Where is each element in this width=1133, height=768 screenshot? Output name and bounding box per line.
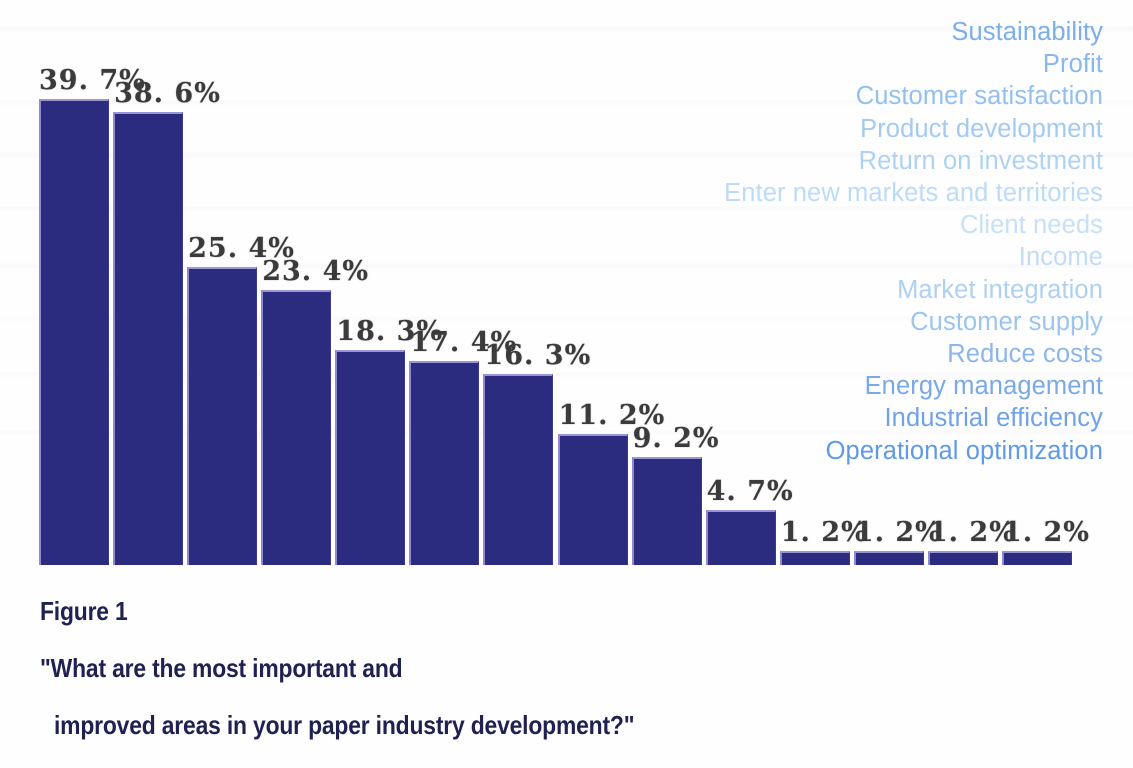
bar-rect <box>706 510 776 565</box>
bar[interactable] <box>780 551 850 565</box>
figure-number: Figure 1 <box>40 596 964 627</box>
legend-item-11: Energy management <box>403 370 1103 402</box>
bar-rect <box>113 112 183 565</box>
bar-value-label: 23. 4% <box>262 256 369 287</box>
bar-value-label: 38. 6% <box>114 78 221 109</box>
bar-rect <box>1002 551 1072 565</box>
figure-container: 39. 7%38. 6%25. 4%23. 4%18. 3%17. 4%16. … <box>0 0 1133 768</box>
bar[interactable] <box>854 551 924 565</box>
bar[interactable] <box>39 99 109 565</box>
bar-value-label: 4. 7% <box>707 476 794 507</box>
bar[interactable] <box>335 350 405 565</box>
bar-rect <box>261 290 331 565</box>
bar-rect <box>335 350 405 565</box>
legend-item-12: Industrial efficiency <box>403 402 1103 434</box>
bar-rect <box>39 99 109 565</box>
bar[interactable] <box>1002 551 1072 565</box>
caption-line-1: "What are the most important and <box>40 653 964 684</box>
bar[interactable] <box>928 551 998 565</box>
legend-item-5: Enter new markets and territories <box>403 177 1103 209</box>
bar-rect <box>928 551 998 565</box>
legend: SustainabilityProfitCustomer satisfactio… <box>403 16 1103 467</box>
legend-item-13: Operational optimization <box>403 435 1103 467</box>
legend-item-9: Customer supply <box>403 306 1103 338</box>
legend-item-8: Market integration <box>403 274 1103 306</box>
legend-item-7: Income <box>403 241 1103 273</box>
bar[interactable] <box>261 290 331 565</box>
bar[interactable] <box>187 267 257 565</box>
legend-item-1: Profit <box>403 48 1103 80</box>
caption-line-2: improved areas in your paper industry de… <box>54 710 966 741</box>
bar-value-label: 1. 2% <box>1003 517 1090 548</box>
bar[interactable] <box>706 510 776 565</box>
bar-rect <box>780 551 850 565</box>
bar-rect <box>632 457 702 565</box>
legend-item-10: Reduce costs <box>403 338 1103 370</box>
bar-rect <box>854 551 924 565</box>
figure-caption: Figure 1 "What are the most important an… <box>40 596 1090 741</box>
bar[interactable] <box>113 112 183 565</box>
legend-item-2: Customer satisfaction <box>403 80 1103 112</box>
bar[interactable] <box>632 457 702 565</box>
legend-item-6: Client needs <box>403 209 1103 241</box>
legend-item-4: Return on investment <box>403 145 1103 177</box>
legend-item-0: Sustainability <box>403 16 1103 48</box>
legend-item-3: Product development <box>403 113 1103 145</box>
bar-rect <box>187 267 257 565</box>
